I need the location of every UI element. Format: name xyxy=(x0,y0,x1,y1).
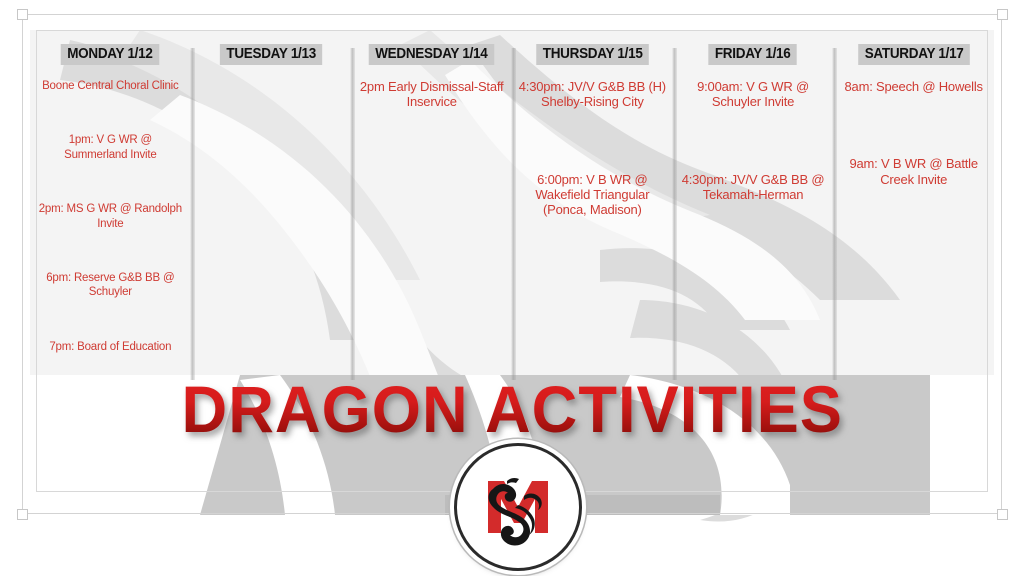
frame-corner-top-left xyxy=(17,9,28,20)
frame-corner-bottom-left xyxy=(17,509,28,520)
poster-title-area: DRAGON ACTIVITIES xyxy=(0,375,1024,446)
activities-poster: MONDAY 1/12 Boone Central Choral Clinic … xyxy=(0,0,1024,576)
poster-title: DRAGON ACTIVITIES xyxy=(181,373,842,448)
frame-corner-top-right xyxy=(997,9,1008,20)
frame-corner-bottom-right xyxy=(997,509,1008,520)
dragon-m-logo xyxy=(454,443,582,571)
